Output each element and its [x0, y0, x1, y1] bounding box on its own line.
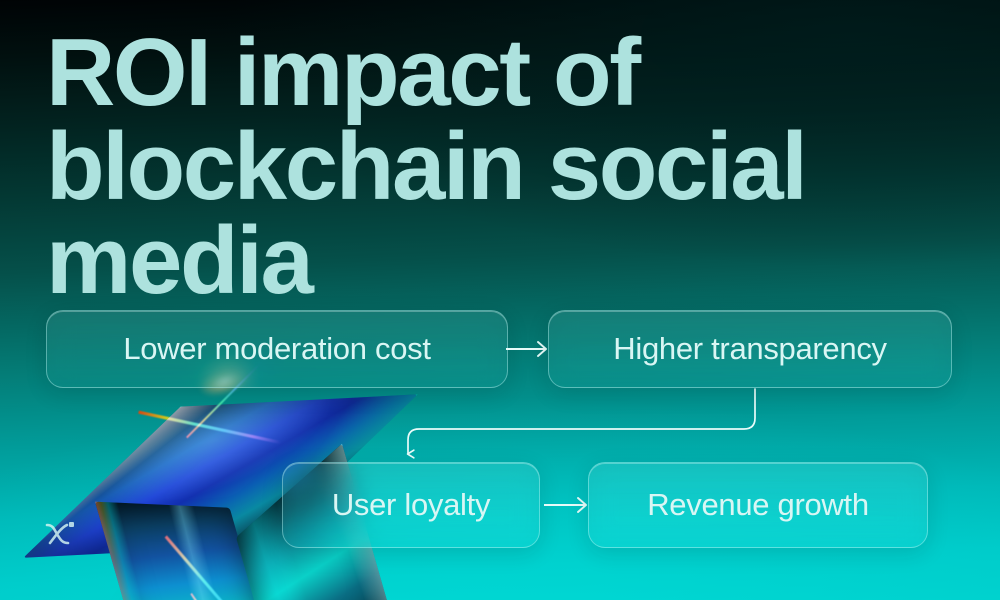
flow-card-user-loyalty[interactable]: User loyalty	[282, 462, 540, 548]
brand-logo-x-icon	[44, 516, 78, 550]
poster-canvas: ROI impact of blockchain social media Lo…	[0, 0, 1000, 600]
flow-card-label: Lower moderation cost	[123, 331, 430, 367]
flow-card-higher-transparency[interactable]: Higher transparency	[548, 310, 952, 388]
flow-card-label: Higher transparency	[613, 331, 886, 367]
flow-card-revenue-growth[interactable]: Revenue growth	[588, 462, 928, 548]
flow-card-label: Revenue growth	[647, 487, 869, 523]
flow-card-lower-moderation-cost[interactable]: Lower moderation cost	[46, 310, 508, 388]
flow-card-label: User loyalty	[332, 487, 490, 523]
